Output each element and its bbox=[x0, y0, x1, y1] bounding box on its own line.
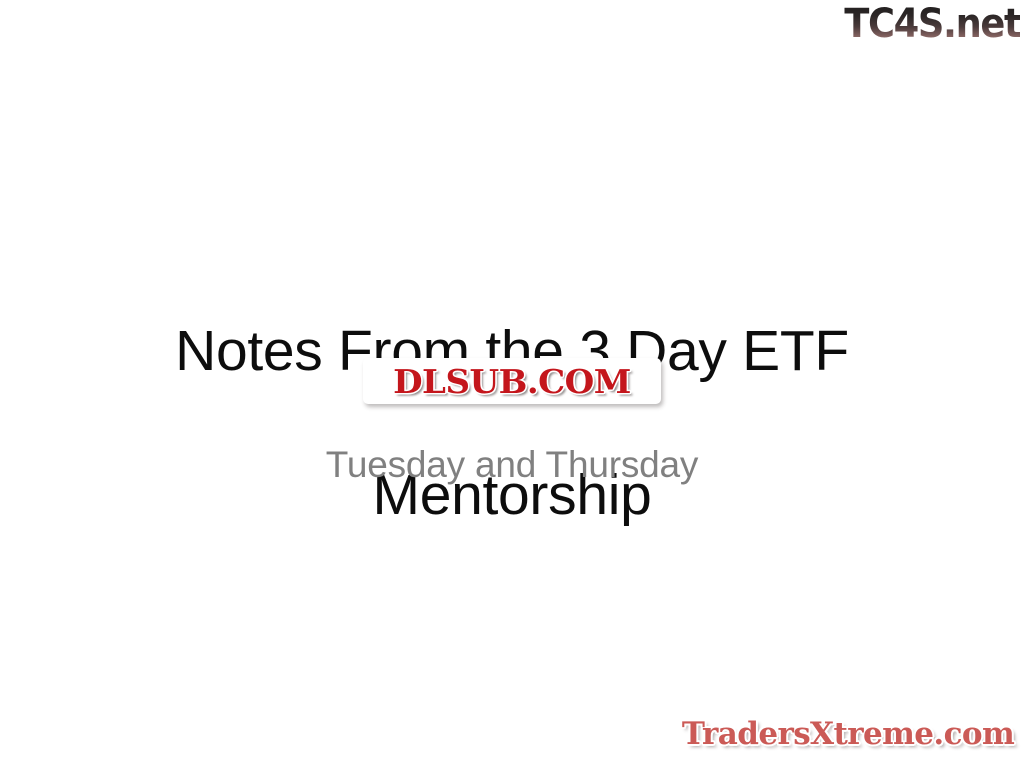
tradersxtreme-watermark: TradersXtreme.com bbox=[680, 713, 1016, 755]
presentation-slide: TC4S.net Notes From the 3 Day ETF Mentor… bbox=[0, 0, 1024, 768]
slide-title-block: Notes From the 3 Day ETF Mentorship bbox=[0, 243, 1024, 603]
page-subtitle: Tuesday and Thursday bbox=[0, 442, 1024, 488]
tc4s-logo-watermark: TC4S.net bbox=[844, 2, 1020, 46]
page-title: Notes From the 3 Day ETF Mentorship bbox=[0, 243, 1024, 603]
dlsub-watermark: DLSUB.COM bbox=[363, 358, 661, 404]
dlsub-watermark-label: DLSUB.COM bbox=[359, 358, 666, 404]
tradersxtreme-watermark-label: TradersXtreme.com bbox=[680, 713, 1016, 755]
slide-subtitle-block: Tuesday and Thursday bbox=[0, 442, 1024, 488]
